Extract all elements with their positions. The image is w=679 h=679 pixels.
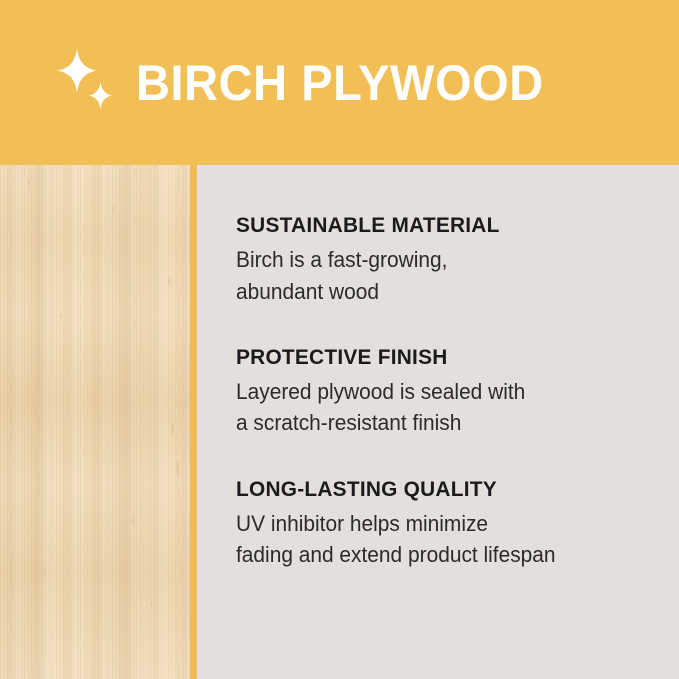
card-header: BIRCH PLYWOOD [0, 0, 679, 165]
feature-description: Birch is a fast-growing, abundant wood [236, 244, 645, 306]
wood-grain-speck [176, 461, 179, 477]
feature-block-protective-finish: PROTECTIVE FINISH Layered plywood is sea… [236, 345, 666, 439]
feature-description-line: Birch is a fast-growing, [236, 244, 645, 275]
feature-description-line: fading and extend product lifespan [236, 539, 645, 570]
feature-description: Layered plywood is sealed with a scratch… [236, 376, 645, 438]
feature-description: UV inhibitor helps minimize fading and e… [236, 508, 645, 570]
card-title: BIRCH PLYWOOD [136, 0, 544, 165]
product-feature-card: BIRCH PLYWOOD SUSTAINABLE MATERIAL Birch… [0, 0, 679, 679]
wood-grain-speck [60, 313, 62, 319]
wood-grain-speck [132, 517, 134, 525]
feature-description-line: a scratch-resistant finish [236, 407, 645, 438]
wood-grain-speck [150, 601, 152, 608]
wood-panel-edge-divider [190, 165, 197, 679]
sparkle-group [56, 48, 118, 114]
sparkle-small-icon [89, 82, 112, 109]
feature-title: LONG-LASTING QUALITY [236, 477, 653, 502]
feature-block-sustainable-material: SUSTAINABLE MATERIAL Birch is a fast-gro… [236, 213, 666, 307]
wood-texture-panel [0, 165, 190, 679]
feature-block-long-lasting-quality: LONG-LASTING QUALITY UV inhibitor helps … [236, 477, 666, 571]
wood-grain-speck [168, 277, 170, 286]
feature-title: PROTECTIVE FINISH [236, 345, 653, 370]
feature-list-panel: SUSTAINABLE MATERIAL Birch is a fast-gro… [197, 165, 679, 679]
feature-blocks: SUSTAINABLE MATERIAL Birch is a fast-gro… [236, 213, 666, 570]
feature-description-line: UV inhibitor helps minimize [236, 508, 645, 539]
feature-title: SUSTAINABLE MATERIAL [236, 213, 653, 238]
feature-description-line: abundant wood [236, 276, 645, 307]
wood-grain-speck [171, 423, 174, 435]
wood-grain-speck [44, 569, 46, 578]
wood-grain-speck [112, 205, 114, 215]
sparkle-large-icon [58, 49, 96, 92]
wood-grain-speck [28, 179, 30, 186]
feature-description-line: Layered plywood is sealed with [236, 376, 645, 407]
